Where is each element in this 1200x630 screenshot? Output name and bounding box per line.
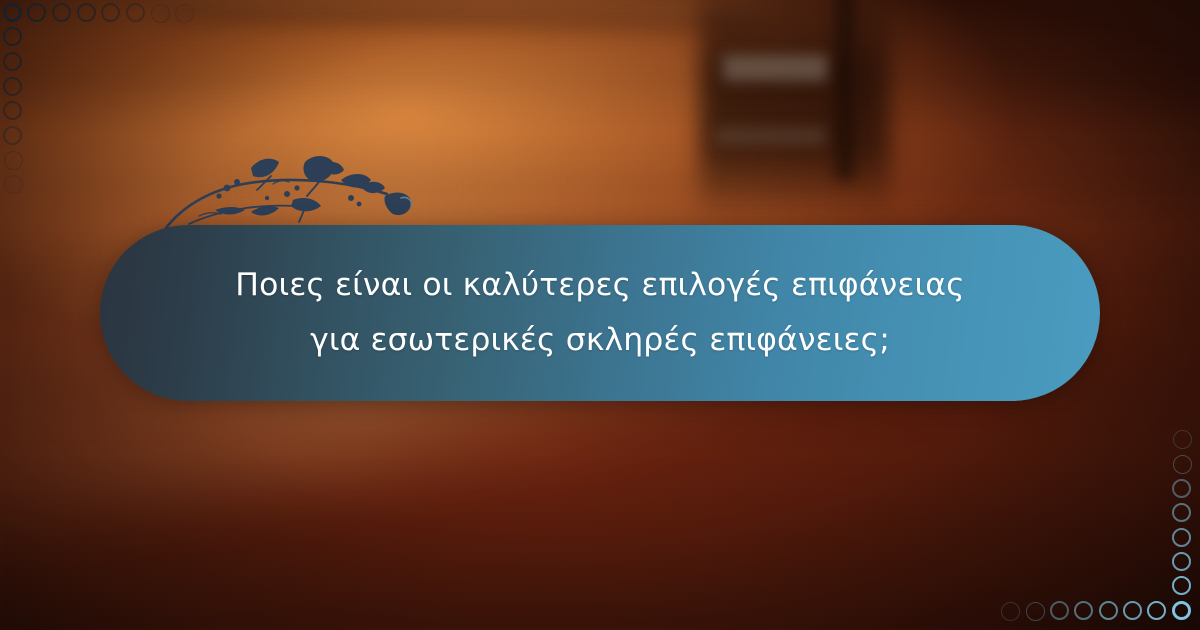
corner-dot [1172,528,1191,547]
corner-dot [1147,601,1166,620]
corner-dot [1001,602,1020,621]
corner-dot [1026,602,1045,621]
corner-dot [1172,552,1191,571]
corner-dot [1172,576,1191,595]
question-text: Ποιες είναι οι καλύτερες επιλογές επιφάν… [160,258,1040,368]
corner-dot [1173,430,1192,449]
corner-dot [1172,503,1191,522]
corner-dot [1099,601,1118,620]
question-pill: Ποιες είναι οι καλύτερες επιλογές επιφάν… [100,225,1100,401]
corner-dot [1074,601,1093,620]
corner-dot [1172,601,1191,620]
corner-dot [1050,601,1069,620]
slide-canvas: Ποιες είναι οι καλύτερες επιλογές επιφάν… [0,0,1200,630]
corner-dot [1172,479,1191,498]
corner-dot [1123,601,1142,620]
corner-dot [1173,455,1192,474]
